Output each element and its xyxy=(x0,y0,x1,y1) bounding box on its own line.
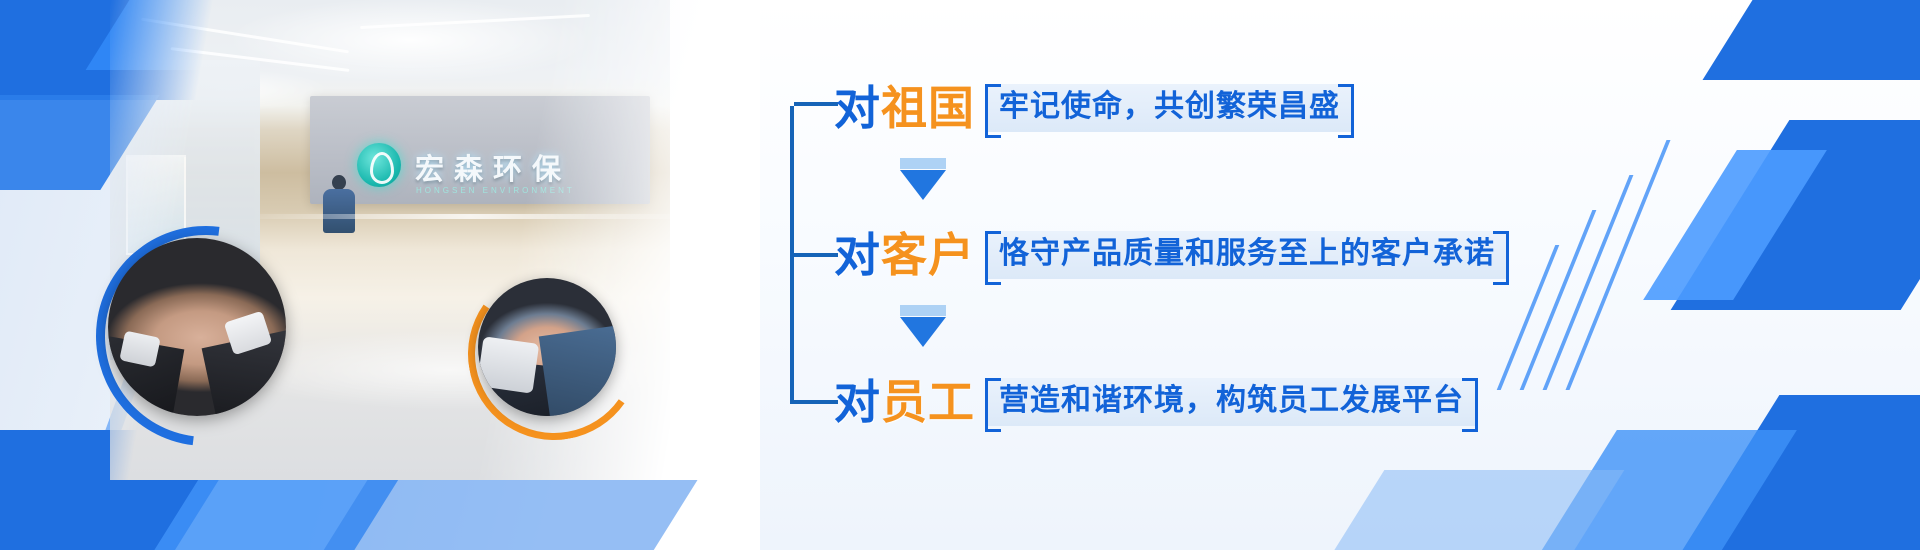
arrow-down-icon-1-triangle xyxy=(900,170,946,200)
values-bracket xyxy=(790,106,838,404)
value-heading-customer: 对 客户 xyxy=(834,232,975,278)
value-heading-country: 对 祖国 xyxy=(834,85,975,131)
company-logo-icon xyxy=(357,143,401,187)
handshake-circle-photo xyxy=(108,238,286,416)
decor-top-right-parallelogram xyxy=(1703,0,1920,80)
value-statement-customer: 恪守产品质量和服务至上的客户承诺 xyxy=(985,231,1509,279)
values-content: 对 祖国 牢记使命，共创繁荣昌盛 对 客户 恪守产品质量和服务至上的客户承诺 对… xyxy=(790,80,1510,460)
receptionist-figure xyxy=(322,175,356,233)
receptionist-head xyxy=(332,175,346,190)
decor-diagonal-line-3 xyxy=(1520,210,1597,390)
value-statement-country: 牢记使命，共创繁荣昌盛 xyxy=(985,84,1354,132)
value-statement-employee: 营造和谐环境，构筑员工发展平台 xyxy=(985,378,1478,426)
arrow-down-icon-2 xyxy=(900,305,946,347)
company-name-sign: 宏森环保 xyxy=(415,146,571,188)
value-prefix-customer: 对 xyxy=(834,232,881,278)
decor-diagonal-line-1 xyxy=(1565,140,1670,390)
arrow-down-icon-2-bar xyxy=(900,305,946,316)
ceiling-light-strip-3 xyxy=(360,14,590,29)
value-prefix-employee: 对 xyxy=(834,379,881,425)
arrow-down-icon-1 xyxy=(900,158,946,200)
value-row-country: 对 祖国 牢记使命，共创繁荣昌盛 xyxy=(834,80,1354,136)
bracket-tick-1 xyxy=(794,102,838,106)
applause-circle-photo xyxy=(478,278,616,416)
value-prefix-country: 对 xyxy=(834,85,881,131)
company-name-sign-sub: HONGSEN ENVIRONMENT xyxy=(416,186,575,195)
value-keyword-employee: 员工 xyxy=(881,379,975,425)
value-keyword-country: 祖国 xyxy=(881,85,975,131)
value-heading-employee: 对 员工 xyxy=(834,379,975,425)
arrow-down-icon-1-bar xyxy=(900,158,946,169)
decor-bottom-right-block-3 xyxy=(1316,470,1625,550)
value-keyword-customer: 客户 xyxy=(881,232,975,278)
applause-sleeve xyxy=(478,336,539,393)
company-values-banner: 宏森环保 HONGSEN ENVIRONMENT xyxy=(0,0,1920,550)
decor-diagonal-line-2 xyxy=(1543,175,1634,390)
value-row-customer: 对 客户 恪守产品质量和服务至上的客户承诺 xyxy=(834,227,1509,283)
receptionist-body xyxy=(323,189,355,233)
bracket-tick-2 xyxy=(794,253,838,257)
arrow-down-icon-2-triangle xyxy=(900,317,946,347)
reception-counter-edge xyxy=(260,214,670,219)
applause-suit-right xyxy=(539,325,616,416)
value-row-employee: 对 员工 营造和谐环境，构筑员工发展平台 xyxy=(834,374,1478,430)
bracket-tick-3 xyxy=(794,400,838,404)
